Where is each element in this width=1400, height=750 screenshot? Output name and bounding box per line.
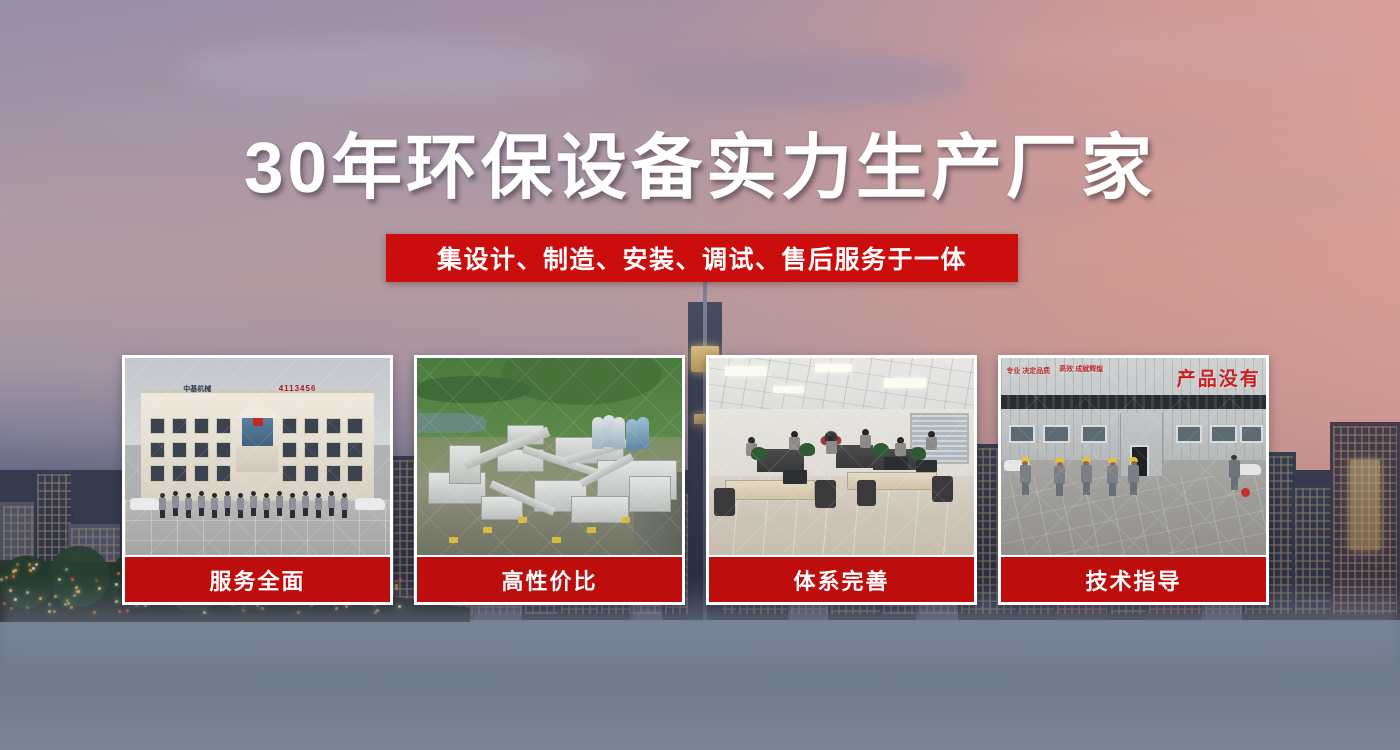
building-window	[216, 465, 231, 481]
building-window	[347, 418, 362, 434]
building-window	[172, 418, 187, 434]
staff-figure	[328, 491, 335, 516]
supervisor-figure	[1229, 455, 1240, 497]
factory-slogan-right: 高效 成就辉煌	[1059, 366, 1103, 374]
office-worker	[789, 431, 800, 451]
company-headquarters-photo: 中基机械 4113456	[125, 358, 390, 555]
building-window	[282, 442, 297, 458]
office-chair	[714, 488, 735, 516]
feature-card[interactable]: 产品没有 专业 决定品质 高效 成就辉煌 技术指导	[998, 355, 1269, 605]
ceiling-light	[884, 378, 926, 388]
worker-figure	[1054, 458, 1065, 498]
factory-window	[1176, 425, 1203, 443]
ceiling-light	[773, 386, 805, 394]
factory-window	[1240, 425, 1264, 443]
yard-machine	[587, 527, 596, 533]
staff-figure	[302, 491, 309, 516]
staff-figure	[172, 491, 179, 516]
hero-banner: 30年环保设备实力生产厂家 集设计、制造、安装、调试、售后服务于一体 中基机械 …	[0, 0, 1400, 750]
office-worker	[860, 429, 871, 449]
staff-figure	[263, 493, 270, 518]
yard-machine	[621, 517, 630, 523]
factory-window	[1009, 425, 1036, 443]
building-window	[194, 442, 209, 458]
building-window	[326, 442, 341, 458]
office-interior-photo	[709, 358, 974, 555]
feature-card-caption: 技术指导	[1001, 555, 1266, 602]
staff-figure	[315, 493, 322, 518]
yard-machine	[552, 537, 561, 543]
computer-monitor	[884, 457, 908, 471]
factory-slogan-left: 专业 决定品质	[1006, 368, 1050, 376]
yard-machine	[483, 527, 492, 533]
feature-card[interactable]: 中基机械 4113456 服务全面	[122, 355, 393, 605]
building-window	[150, 465, 165, 481]
staff-figure	[198, 491, 205, 516]
feature-card-caption: 服务全面	[125, 555, 390, 602]
building-window	[347, 442, 362, 458]
office-worker	[826, 435, 837, 455]
building-window	[216, 418, 231, 434]
building-sign-label: 中基机械	[183, 383, 252, 395]
feature-card-caption: 高性价比	[417, 555, 682, 602]
office-building	[141, 390, 374, 500]
feature-card[interactable]: 体系完善	[706, 355, 977, 605]
building-window	[172, 442, 187, 458]
building-window	[347, 465, 362, 481]
staff-figure	[237, 493, 244, 518]
building-window	[150, 442, 165, 458]
building-window	[326, 418, 341, 434]
aerial-production-plant-photo	[417, 358, 682, 555]
potted-plant	[751, 447, 767, 460]
feature-card[interactable]: 高性价比	[414, 355, 685, 605]
feature-card-row: 中基机械 4113456 服务全面	[122, 355, 1278, 605]
building-window	[194, 418, 209, 434]
workers-training-photo: 产品没有 专业 决定品质 高效 成就辉煌	[1001, 358, 1266, 555]
staff-figure	[289, 493, 296, 518]
feature-card-caption: 体系完善	[709, 555, 974, 602]
potted-plant	[799, 443, 815, 456]
office-worker	[895, 437, 906, 457]
building-window	[304, 465, 319, 481]
factory-window	[1081, 425, 1108, 443]
ceiling-light	[815, 364, 852, 372]
staff-figure	[224, 491, 231, 516]
silo	[637, 417, 649, 449]
building-window	[150, 418, 165, 434]
factory-sign-label: 产品没有	[1139, 364, 1261, 392]
building-window	[282, 418, 297, 434]
building-phone-label: 4113456	[279, 383, 359, 395]
plant-building	[629, 476, 671, 511]
potted-plant	[910, 447, 926, 460]
staff-figure	[159, 493, 166, 518]
staff-figure	[211, 493, 218, 518]
silo	[613, 417, 625, 449]
office-chair	[815, 480, 836, 508]
office-worker	[926, 431, 937, 451]
staff-figure	[276, 491, 283, 516]
building-window	[282, 465, 297, 481]
building-window	[172, 465, 187, 481]
worker-figure	[1128, 457, 1139, 497]
staff-figure	[185, 493, 192, 518]
worker-figure	[1081, 457, 1092, 497]
computer-monitor	[916, 460, 937, 472]
hero-subtitle-banner: 集设计、制造、安装、调试、售后服务于一体	[386, 234, 1018, 282]
factory-window	[1043, 425, 1070, 443]
building-window	[304, 442, 319, 458]
building-window	[326, 465, 341, 481]
worker-figure	[1020, 457, 1031, 497]
yard-machine	[449, 537, 458, 543]
office-chair	[932, 476, 953, 502]
building-window	[216, 442, 231, 458]
office-chair	[857, 480, 876, 506]
staff-figure	[250, 491, 257, 516]
factory-window	[1210, 425, 1237, 443]
worker-figure	[1107, 458, 1118, 498]
hero-headline: 30年环保设备实力生产厂家	[0, 133, 1400, 204]
building-window	[194, 465, 209, 481]
staff-figure	[341, 493, 348, 518]
building-window	[304, 418, 319, 434]
ceiling-light	[725, 366, 767, 376]
computer-monitor	[783, 470, 807, 484]
yard-machine	[518, 517, 527, 523]
potted-plant	[873, 443, 889, 456]
